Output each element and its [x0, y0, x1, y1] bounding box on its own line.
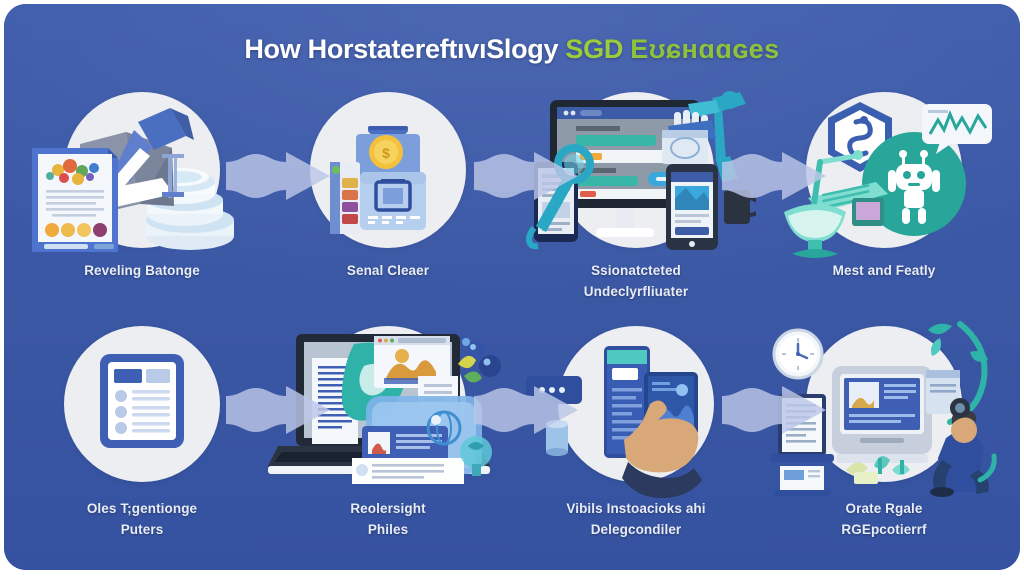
step-8-caption-line2: RGEpcotierrf	[756, 519, 1012, 540]
step-4[interactable]: Mest and Featly	[756, 92, 1012, 322]
step-8-caption-line1: Orate Rgale	[756, 498, 1012, 519]
step-2-caption-line1: Senal Cleaer	[260, 260, 516, 281]
step-4-caption: Mest and Featly	[756, 260, 1012, 281]
connector-arrow-3	[722, 150, 826, 202]
title-tail: Slogy	[486, 34, 558, 64]
step-5[interactable]: Oles T;gentionge Puters	[14, 326, 270, 556]
step-3-disc	[558, 92, 714, 248]
step-8[interactable]: Orate Rgale RGEpcotierrf	[756, 326, 1012, 556]
step-row-top: Reveling Batonge	[4, 92, 1020, 322]
page-title: How HorstatereftıvıSlogy SGD Eʊɕнɑɑɢes	[244, 34, 779, 65]
connector-arrow-1	[226, 150, 330, 202]
step-8-caption: Orate Rgale RGEpcotierrf	[756, 498, 1012, 540]
step-1-caption: Reveling Batonge	[14, 260, 270, 281]
step-4-disc	[806, 92, 962, 248]
step-5-caption: Oles T;gentionge Puters	[14, 498, 270, 540]
step-3-caption: Ssionatcteted Undeclyrfliuater	[508, 260, 764, 302]
step-5-caption-line2: Puters	[14, 519, 270, 540]
step-row-bottom: Oles T;gentionge Puters	[4, 326, 1020, 556]
step-2[interactable]: $ Senal Cleaer	[260, 92, 516, 322]
step-1[interactable]: Reveling Batonge	[14, 92, 270, 322]
step-7-caption-line2: Delegcondiler	[508, 519, 764, 540]
step-1-caption-line1: Reveling Batonge	[14, 260, 270, 281]
infographic-panel: How HorstatereftıvıSlogy SGD Eʊɕнɑɑɢes	[4, 4, 1020, 570]
step-7-caption: Vibils Instoacioks ahi Delegcondiler	[508, 498, 764, 540]
step-7-disc	[558, 326, 714, 482]
step-6-caption: Reolersight Philes	[260, 498, 516, 540]
step-5-disc	[64, 326, 220, 482]
step-7-caption-line1: Vibils Instoacioks ahi	[508, 498, 764, 519]
step-6-caption-line1: Reolersight	[260, 498, 516, 519]
step-6[interactable]: Reolersight Philes	[260, 326, 516, 556]
step-2-caption: Senal Cleaer	[260, 260, 516, 281]
step-5-caption-line1: Oles T;gentionge	[14, 498, 270, 519]
connector-arrow-6	[722, 384, 826, 436]
connector-arrow-5	[474, 384, 578, 436]
step-4-caption-line1: Mest and Featly	[756, 260, 1012, 281]
page-title-container: How HorstatereftıvıSlogy SGD Eʊɕнɑɑɢes	[4, 34, 1020, 65]
title-main: How Horstatereftıvı	[244, 34, 486, 64]
connector-arrow-2	[474, 150, 578, 202]
title-accent: SGD	[565, 34, 623, 64]
step-6-caption-line2: Philes	[260, 519, 516, 540]
step-7[interactable]: Vibils Instoacioks ahi Delegcondiler	[508, 326, 764, 556]
step-6-disc	[310, 326, 466, 482]
step-8-disc	[806, 326, 962, 482]
step-3-caption-line1: Ssionatcteted	[508, 260, 764, 281]
step-3-caption-line2: Undeclyrfliuater	[508, 281, 764, 302]
step-1-disc	[64, 92, 220, 248]
infographic-stage: How HorstatereftıvıSlogy SGD Eʊɕнɑɑɢes	[0, 0, 1024, 576]
step-3[interactable]: Ssionatcteted Undeclyrfliuater	[508, 92, 764, 322]
connector-arrow-4	[226, 384, 330, 436]
step-2-disc	[310, 92, 466, 248]
title-subaccent: Eʊɕнɑɑɢes	[630, 34, 779, 64]
